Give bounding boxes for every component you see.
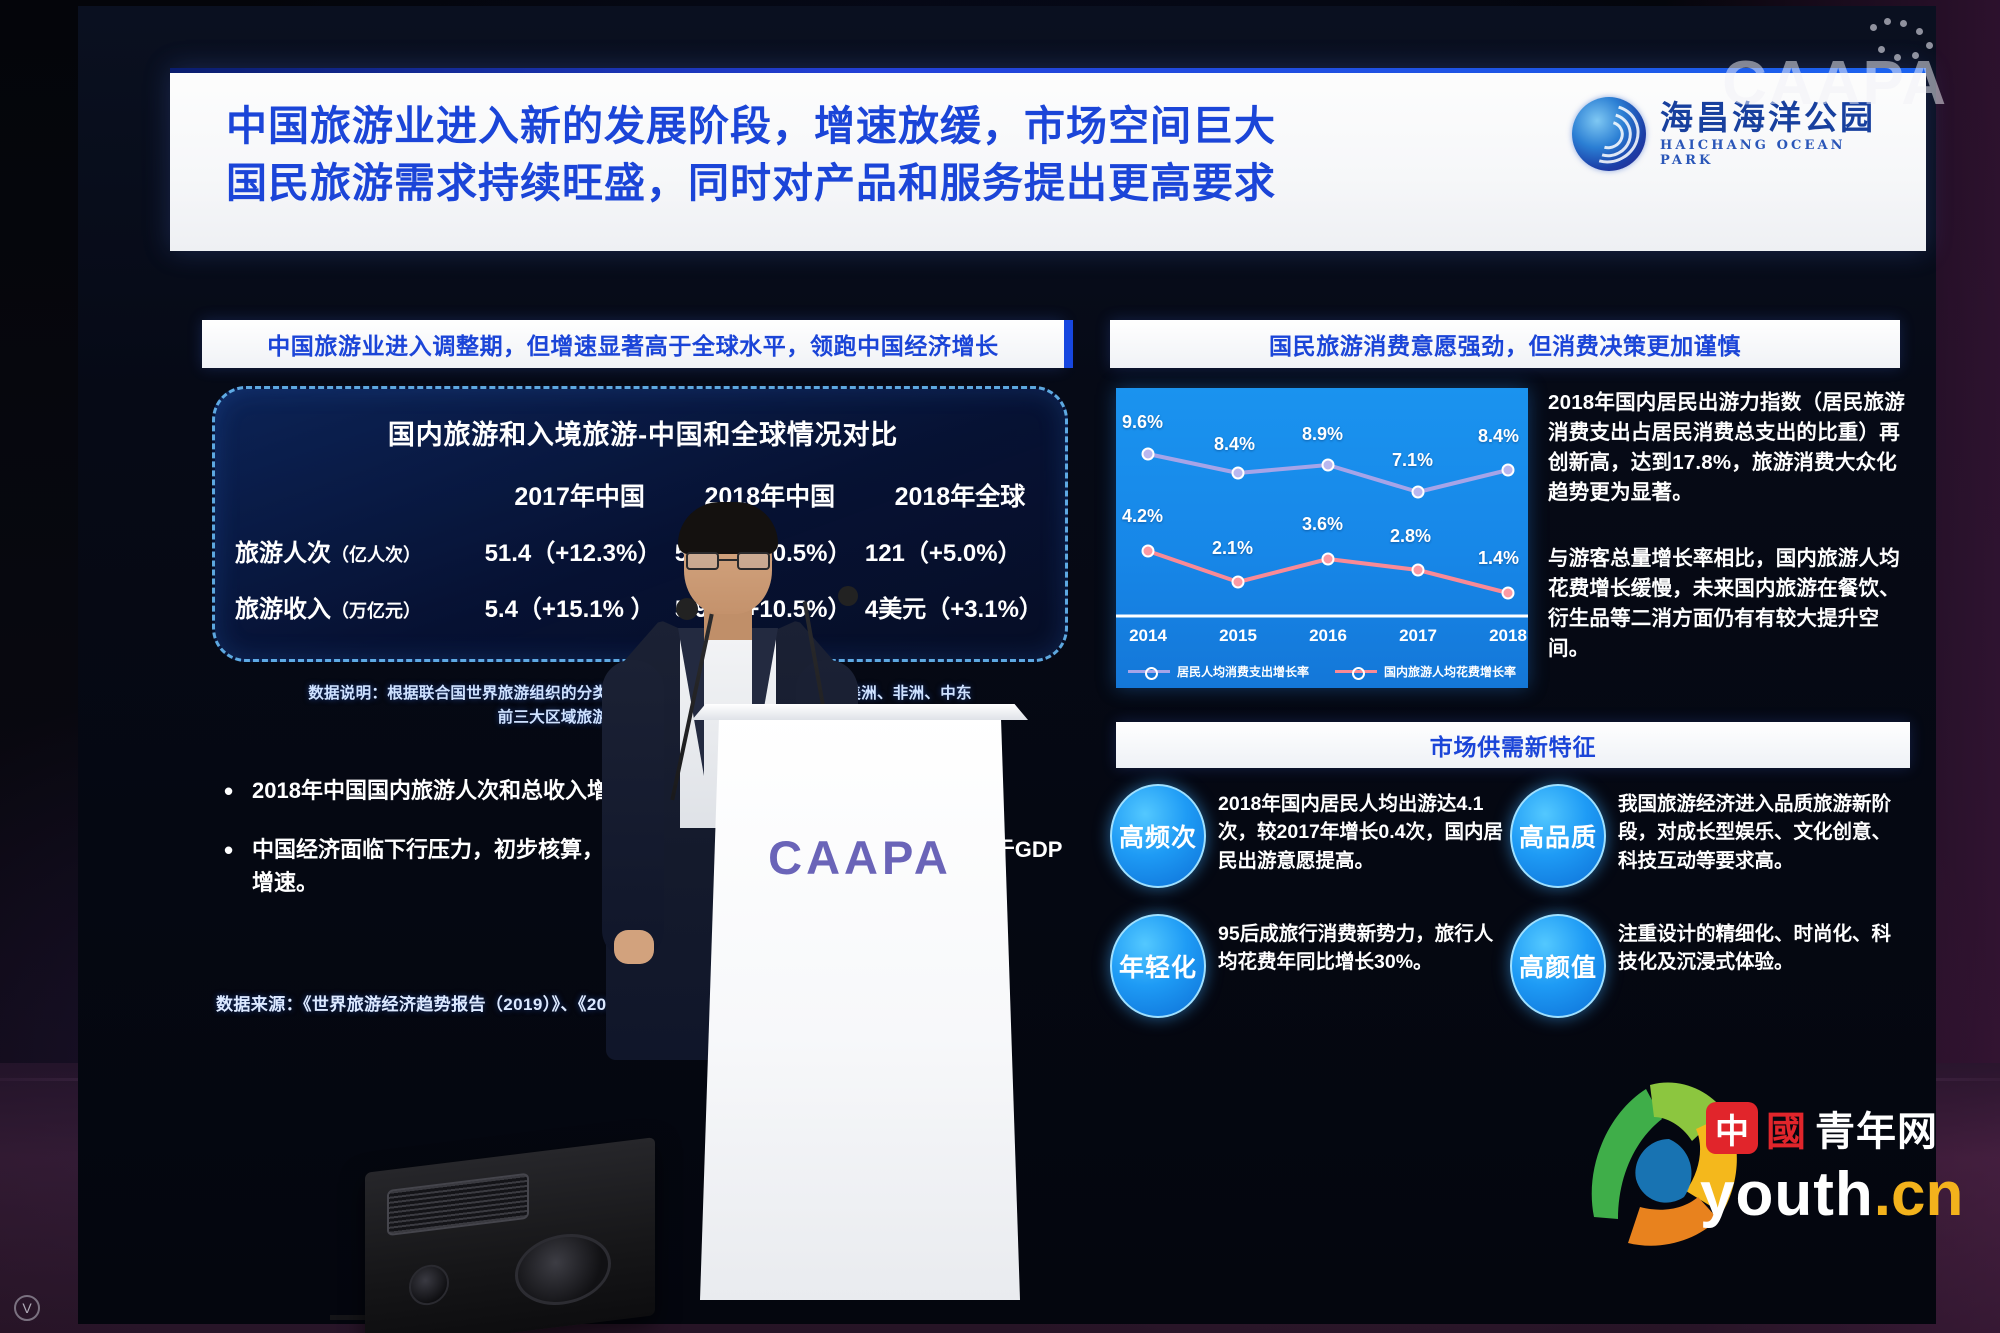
chart-label-s1-2015: 2.1% (1212, 538, 1253, 559)
feature-card-gaopinzhi: 高品质 我国旅游经济进入品质旅游新阶段，对成长型娱乐、文化创意、科技互动等要求高… (1510, 784, 1910, 888)
youth-url-name: youth (1700, 1159, 1874, 1230)
chart-legend: 居民人均消费支出增长率 国内旅游人均花费增长率 (1116, 663, 1528, 680)
legend-label-0: 居民人均消费支出增长率 (1177, 663, 1309, 680)
feature-row: 年轻化 95后成旅行消费新势力，旅行人均花费年同比增长30%。 高颜值 注重设计… (1110, 914, 1910, 1018)
feature-badge: 高频次 (1110, 784, 1206, 888)
chart-label-s1-2014: 4.2% (1122, 506, 1163, 527)
podium-top-surface (692, 704, 1028, 720)
legend-item-0: 居民人均消费支出增长率 (1128, 663, 1309, 680)
feature-card-gaopinci: 高频次 2018年国内居民人均出游达4.1次，较2017年增长0.4次，国内居民… (1110, 784, 1510, 888)
cell-revenue-2018global: 4美元（+3.1%） (865, 589, 1055, 624)
microphone-head-left (676, 598, 698, 620)
feature-row: 高频次 2018年国内居民人均出游达4.1次，较2017年增长0.4次，国内居民… (1110, 784, 1910, 888)
slide-title: 中国旅游业进入新的发展阶段，增速放缓，市场空间巨大 国民旅游需求持续旺盛，同时对… (226, 98, 1526, 211)
chart-label-s1-2018: 1.4% (1478, 548, 1519, 569)
podium-logo-text: CAAPA (700, 830, 1020, 885)
legend-item-1: 国内旅游人均花费增长率 (1335, 663, 1516, 680)
chart-xtick-2014: 2014 (1118, 626, 1178, 646)
speaker-hair (678, 502, 778, 554)
youth-cn-square: 中 (1706, 1102, 1758, 1154)
corner-badge: V (14, 1295, 40, 1321)
monitor-tweeter (409, 1262, 449, 1307)
youth-cn-url: youth .cn (1700, 1159, 1963, 1230)
chart-xtick-2017: 2017 (1388, 626, 1448, 646)
feature-badge: 高品质 (1510, 784, 1606, 888)
caapa-watermark: CAAPA (1718, 18, 1948, 128)
youth-cn-word1: 國 (1766, 1099, 1807, 1157)
feature-card-nianqinghua: 年轻化 95后成旅行消费新势力，旅行人均花费年同比增长30%。 (1110, 914, 1510, 1018)
feature-text: 95后成旅行消费新势力，旅行人均花费年同比增长30%。 (1218, 914, 1508, 977)
left-panel-header-text: 中国旅游业进入调整期，但增速显著高于全球水平，领跑中国经济增长 (267, 327, 999, 361)
row-unit-revenue: （万亿元） (331, 601, 421, 621)
slide-title-line1: 中国旅游业进入新的发展阶段，增速放缓，市场空间巨大 (226, 98, 1526, 155)
market-features-header: 市场供需新特征 (1116, 722, 1910, 768)
chart-xtick-2018: 2018 (1478, 626, 1538, 646)
right-note-a: 2018年国内居民出游力指数（居民旅游消费支出占居民消费总支出的比重）再创新高，… (1548, 388, 1910, 508)
chart-xtick-2016: 2016 (1298, 626, 1358, 646)
microphone-head-right (838, 586, 858, 606)
market-features-grid: 高频次 2018年国内居民人均出游达4.1次，较2017年增长0.4次，国内居民… (1110, 784, 1910, 1044)
comparison-table-title: 国内旅游和入境旅游-中国和全球情况对比 (215, 413, 1071, 452)
growth-rate-line-chart: 9.6% 8.4% 8.9% 7.1% 8.4% 4.2% 2.1% 3.6% … (1116, 388, 1528, 688)
youth-cn-logo: 中 國 青年网 (1706, 1099, 1938, 1157)
chart-label-s0-2015: 8.4% (1214, 434, 1255, 455)
feature-text: 2018年国内居民人均出游达4.1次，较2017年增长0.4次，国内居民出游意愿… (1218, 784, 1508, 875)
youth-cn-watermark: 中 國 青年网 youth .cn (1574, 1055, 1964, 1285)
legend-swatch-1 (1335, 670, 1377, 673)
header-accent-bar (170, 68, 1926, 73)
speaker-arm-left (602, 660, 664, 960)
legend-label-1: 国内旅游人均花费增长率 (1384, 663, 1516, 680)
monitor-woofer (515, 1229, 611, 1311)
youth-cn-word2: 青年网 (1815, 1099, 1938, 1157)
chart-label-s0-2017: 7.1% (1392, 450, 1433, 471)
feature-text: 我国旅游经济进入品质旅游新阶段，对成长型娱乐、文化创意、科技互动等要求高。 (1618, 784, 1908, 875)
col-header-2018-global: 2018年全球 (865, 477, 1055, 513)
speaker-glasses (686, 552, 770, 570)
left-panel-header-endbar (1064, 320, 1073, 368)
haichang-logo-en: HAICHANG OCEAN PARK (1660, 138, 1902, 168)
right-note-b: 与游客总量增长率相比，国内旅游人均花费增长缓慢，未来国内旅游在餐饮、衍生品等二消… (1548, 544, 1910, 664)
row-label-revenue: 旅游收入 (235, 596, 331, 623)
chart-label-s1-2017: 2.8% (1390, 526, 1431, 547)
stage-monitor-speaker (365, 1137, 655, 1333)
feature-text: 注重设计的精细化、时尚化、科技化及沉浸式体验。 (1618, 914, 1908, 977)
chart-xtick-2015: 2015 (1208, 626, 1268, 646)
row-unit-visits: （亿人次） (331, 545, 421, 565)
feature-badge: 高颜值 (1510, 914, 1606, 1018)
podium (700, 712, 1020, 1300)
right-panel-header-text: 国民旅游消费意愿强劲，但消费决策更加谨慎 (1269, 327, 1741, 361)
youth-url-tld: .cn (1874, 1159, 1964, 1230)
speaker-hand (614, 930, 654, 964)
chart-label-s0-2014: 9.6% (1122, 412, 1163, 433)
legend-swatch-0 (1128, 670, 1170, 673)
feature-card-gaoyanzhi: 高颜值 注重设计的精细化、时尚化、科技化及沉浸式体验。 (1510, 914, 1910, 1018)
chart-label-s0-2018: 8.4% (1478, 426, 1519, 447)
caapa-watermark-text: CAAPA (1718, 48, 1948, 119)
chart-label-s0-2016: 8.9% (1302, 424, 1343, 445)
feature-badge: 年轻化 (1110, 914, 1206, 1018)
chart-label-s1-2016: 3.6% (1302, 514, 1343, 535)
screenshot-root: 中国旅游业进入新的发展阶段，增速放缓，市场空间巨大 国民旅游需求持续旺盛，同时对… (0, 0, 2000, 1333)
haichang-wave-icon (1572, 97, 1646, 171)
monitor-grille (387, 1173, 529, 1236)
slide-title-line2: 国民旅游需求持续旺盛，同时对产品和服务提出更高要求 (226, 155, 1526, 212)
cell-visits-2018global: 121（+5.0%） (865, 533, 1055, 568)
slide-header-band: 中国旅游业进入新的发展阶段，增速放缓，市场空间巨大 国民旅游需求持续旺盛，同时对… (170, 68, 1926, 251)
left-panel-header: 中国旅游业进入调整期，但增速显著高于全球水平，领跑中国经济增长 (202, 320, 1064, 368)
row-label-visits: 旅游人次 (235, 540, 331, 567)
right-panel-header: 国民旅游消费意愿强劲，但消费决策更加谨慎 (1110, 320, 1900, 368)
